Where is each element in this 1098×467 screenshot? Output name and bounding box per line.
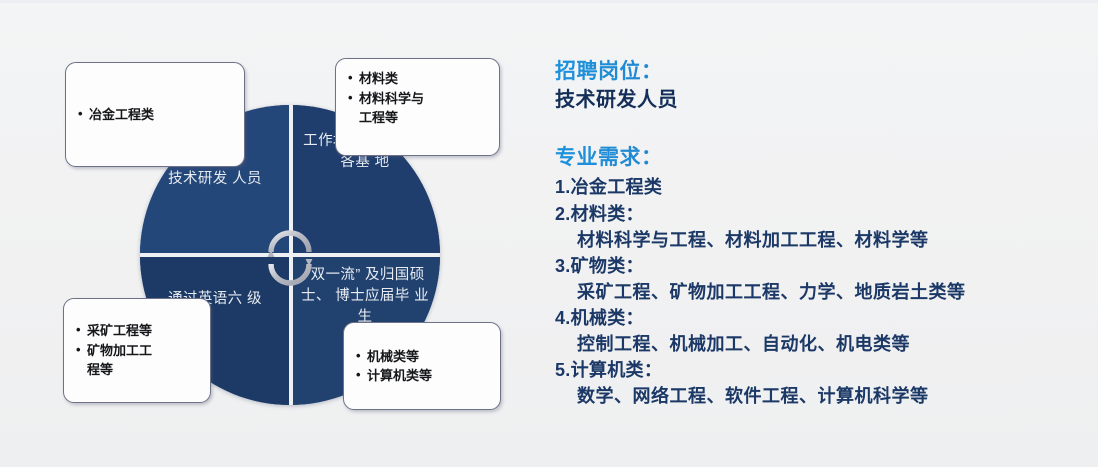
- item-number: 1.: [555, 177, 571, 197]
- list-item: 机械类等: [356, 347, 432, 367]
- list-item: 5.计算机类： 数学、网络工程、软件工程、计算机科学等: [555, 357, 1055, 409]
- info-panel: 招聘岗位： 技术研发人员 专业需求： 1.冶金工程类 2.材料类： 材料科学与工…: [555, 58, 1055, 409]
- list-item: 1.冶金工程类: [555, 174, 1055, 200]
- list-item: 冶金工程类: [78, 105, 154, 125]
- item-detail: 数学、网络工程、软件工程、计算机科学等: [555, 383, 1055, 409]
- divider-horizontal: [140, 253, 440, 257]
- list-item: 3.矿物类： 采矿工程、矿物加工工程、力学、地质岩土类等: [555, 253, 1055, 305]
- callout-list: 冶金工程类: [78, 105, 154, 125]
- callout-list: 采矿工程等 矿物加工工 程等: [76, 321, 152, 380]
- callout-list: 材料类 材料科学与 工程等: [348, 69, 487, 128]
- item-detail: 采矿工程、矿物加工工程、力学、地质岩土类等: [555, 279, 1055, 305]
- quadrant-diagram: 冶金工程类 材料类 材料科学与 工程等 采矿工程等 矿物加工工 程等 机械类等 …: [55, 50, 525, 415]
- quadrant-label: “双一流” 及归国硕士、 博士应届毕 业生: [290, 265, 440, 328]
- callout-box-top-right: 材料类 材料科学与 工程等: [335, 58, 500, 156]
- item-number: 5.: [555, 360, 571, 380]
- list-item: 材料类: [348, 69, 487, 89]
- list-item: 采矿工程等: [76, 321, 152, 341]
- major-requirement-list: 1.冶金工程类 2.材料类： 材料科学与工程、材料加工工程、材料学等 3.矿物类…: [555, 174, 1055, 409]
- item-detail: 材料科学与工程、材料加工工程、材料学等: [555, 227, 1055, 253]
- quadrant-label: 技术研发 人员: [158, 169, 272, 190]
- callout-box-bottom-right: 机械类等 计算机类等: [343, 322, 501, 410]
- item-detail: 控制工程、机械加工、自动化、机电类等: [555, 331, 1055, 357]
- item-title: 冶金工程类: [571, 177, 663, 197]
- callout-box-bottom-left: 采矿工程等 矿物加工工 程等: [63, 298, 211, 403]
- item-number: 4.: [555, 308, 571, 328]
- item-number: 3.: [555, 256, 571, 276]
- list-item: 矿物加工工 程等: [76, 341, 152, 380]
- item-title: 材料类：: [571, 204, 644, 224]
- item-title: 计算机类：: [571, 360, 663, 380]
- slide-canvas: 冶金工程类 材料类 材料科学与 工程等 采矿工程等 矿物加工工 程等 机械类等 …: [0, 0, 1098, 467]
- list-item: 计算机类等: [356, 366, 432, 386]
- item-number: 2.: [555, 204, 571, 224]
- item-title: 机械类：: [571, 308, 644, 328]
- list-item: 4.机械类： 控制工程、机械加工、自动化、机电类等: [555, 305, 1055, 357]
- recruit-position-value: 技术研发人员: [555, 87, 1055, 114]
- item-title: 矿物类：: [571, 256, 644, 276]
- panel-spacer: [555, 114, 1055, 144]
- recruit-position-heading: 招聘岗位：: [555, 58, 1055, 86]
- major-requirement-heading: 专业需求：: [555, 144, 1055, 172]
- list-item: 2.材料类： 材料科学与工程、材料加工工程、材料学等: [555, 201, 1055, 253]
- callout-list: 机械类等 计算机类等: [356, 347, 432, 386]
- callout-box-top-left: 冶金工程类: [65, 62, 245, 167]
- list-item: 材料科学与 工程等: [348, 89, 487, 128]
